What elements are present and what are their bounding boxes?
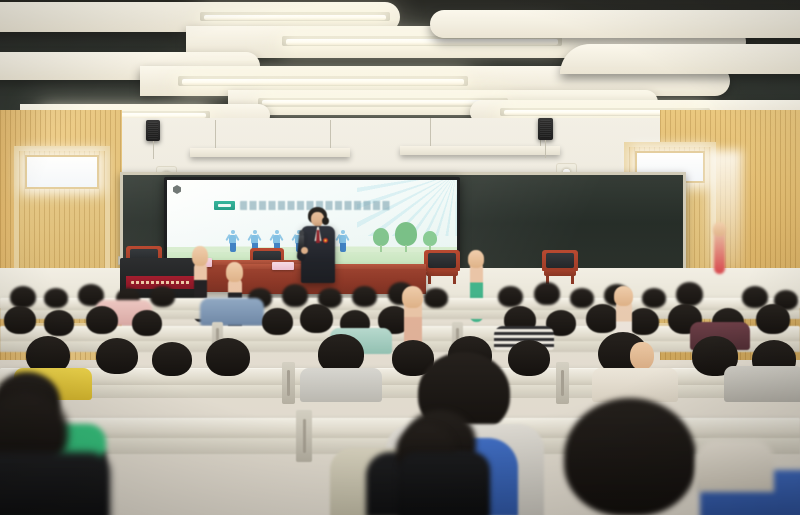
raised-hand-left-palm xyxy=(192,246,208,266)
slide-figure xyxy=(339,230,346,252)
door-transom-window xyxy=(25,155,99,189)
ceiling-light-tube xyxy=(204,15,386,20)
student-face xyxy=(630,342,654,370)
student-head xyxy=(300,304,333,333)
stage-chair[interactable] xyxy=(424,250,460,284)
student-head xyxy=(262,308,293,335)
desk-divider xyxy=(282,362,295,404)
student-head xyxy=(4,306,36,334)
student-head xyxy=(570,288,594,308)
student-head xyxy=(642,288,666,308)
student-head xyxy=(756,304,790,334)
wall-speaker-right xyxy=(538,118,553,140)
student-head xyxy=(676,282,703,306)
speaker-cable xyxy=(153,141,154,159)
presenter-hair-bun xyxy=(322,217,329,225)
slide-tree xyxy=(395,222,417,252)
student-head xyxy=(150,286,175,307)
ceiling-light-tube xyxy=(286,39,558,45)
desk-divider xyxy=(296,410,312,462)
soffit-hanger xyxy=(215,120,216,148)
student-head xyxy=(498,286,523,307)
student-head xyxy=(424,288,448,308)
slide-tree xyxy=(423,231,437,252)
ceiling-soffit xyxy=(190,148,350,157)
ceiling-panel xyxy=(560,44,800,74)
raised-hand-far-right-palm xyxy=(713,222,726,236)
ceiling-soffit xyxy=(400,146,560,155)
slide-tree xyxy=(373,228,389,252)
student-head xyxy=(44,288,68,308)
student-head xyxy=(96,338,138,374)
student-head xyxy=(742,286,768,308)
raised-hand-left-2-palm xyxy=(226,262,243,282)
student-body-gray xyxy=(300,368,382,402)
desk-row-3-face xyxy=(0,385,800,398)
desk-divider xyxy=(556,362,569,404)
student-head xyxy=(628,308,659,335)
student-head xyxy=(132,310,162,336)
slide-figure xyxy=(229,230,236,252)
student-body-gray xyxy=(724,366,800,402)
student-head xyxy=(586,304,619,333)
student-head xyxy=(86,306,118,334)
student-body-denim xyxy=(200,298,264,326)
slide-badge xyxy=(214,201,235,210)
raised-hand-center-palm xyxy=(402,286,423,308)
soffit-hanger xyxy=(330,120,331,148)
raised-hand-green-palm xyxy=(468,250,484,268)
student-head-foreground xyxy=(564,398,696,515)
student-head xyxy=(10,286,36,308)
soffit-hanger xyxy=(430,118,431,146)
presenter xyxy=(296,207,340,283)
student-head xyxy=(534,282,560,305)
student-head xyxy=(44,310,74,336)
student-body-cream xyxy=(696,440,774,492)
name-card xyxy=(272,262,294,270)
student-body-dark xyxy=(0,452,110,515)
student-head xyxy=(152,342,192,376)
raised-hand-right-palm xyxy=(614,286,633,306)
student-head xyxy=(282,284,308,307)
student-head xyxy=(508,340,550,376)
wall-speaker-left xyxy=(146,120,160,141)
student-head xyxy=(352,286,377,307)
student-body-dark xyxy=(398,452,490,515)
ceiling-light-tube xyxy=(262,100,504,105)
ceiling-panel xyxy=(430,10,800,38)
presenter-lapel-emblem-icon xyxy=(323,238,328,243)
stage-chair[interactable] xyxy=(542,250,578,284)
student-head xyxy=(206,338,250,376)
ceiling-light-tube xyxy=(182,79,464,85)
student-body-cream xyxy=(592,368,678,402)
presenter-hand xyxy=(301,247,308,254)
slide-logo-icon xyxy=(173,185,181,194)
lecture-hall-photo xyxy=(0,0,800,515)
speaker-cable xyxy=(545,140,546,158)
